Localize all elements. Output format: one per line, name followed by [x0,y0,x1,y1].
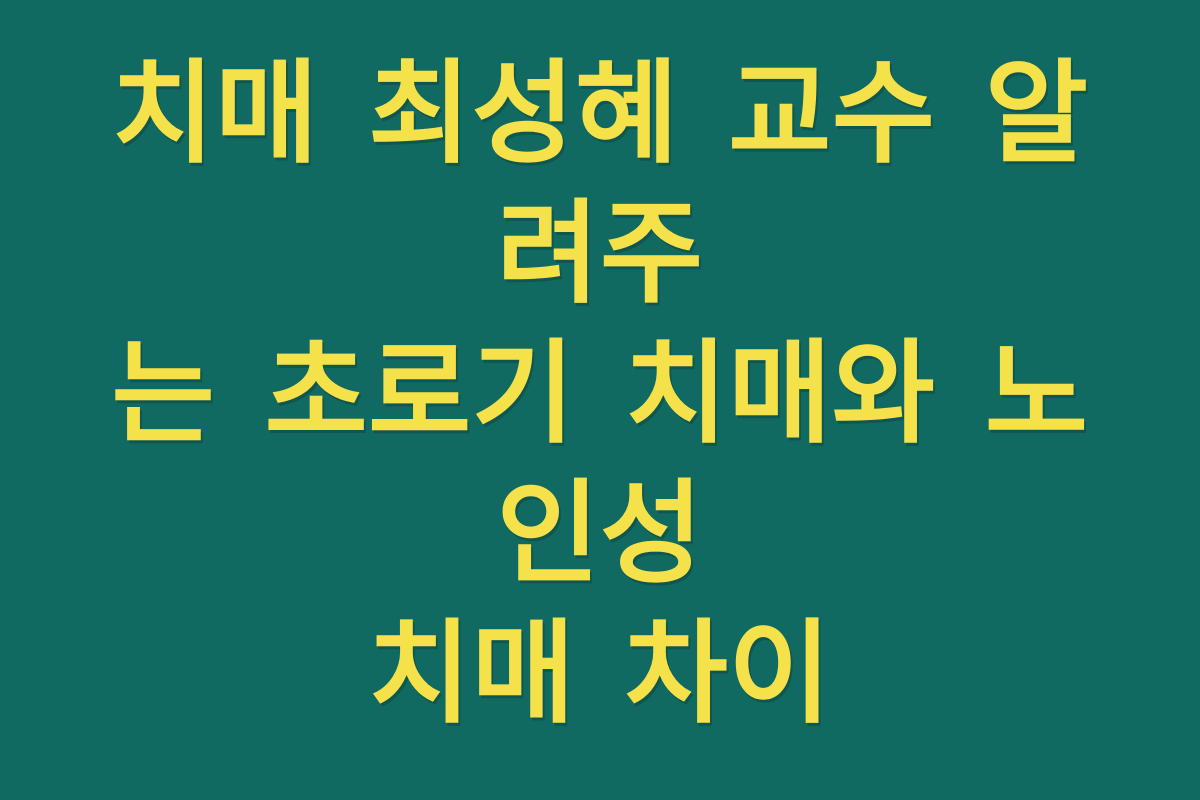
headline-line-1: 치매 최성혜 교수 알려주 [80,44,1120,324]
thumbnail-canvas: 치매 최성혜 교수 알려주 는 초로기 치매와 노인성 치매 차이 [0,0,1200,800]
headline-title: 치매 최성혜 교수 알려주 는 초로기 치매와 노인성 치매 차이 [80,44,1120,744]
headline-block: 치매 최성혜 교수 알려주 는 초로기 치매와 노인성 치매 차이 [80,44,1120,744]
headline-line-2: 는 초로기 치매와 노인성 [80,324,1120,604]
headline-line-3: 치매 차이 [80,604,1120,744]
